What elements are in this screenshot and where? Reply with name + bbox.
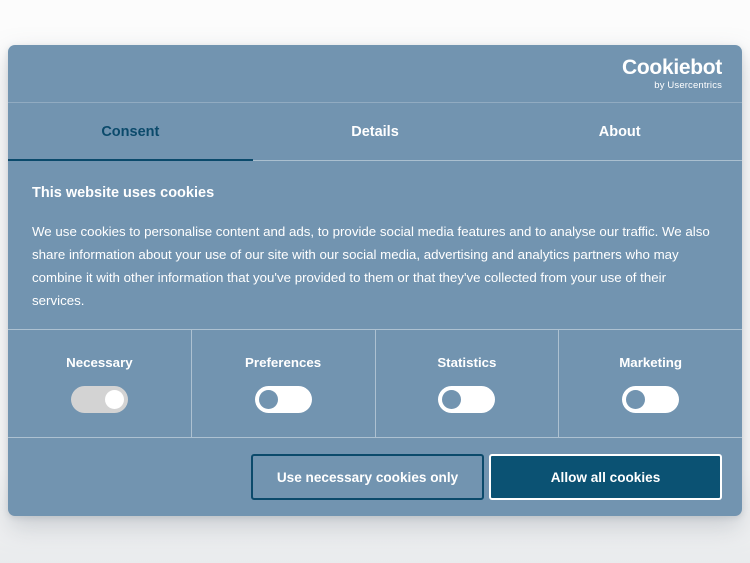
toggle-knob-icon [259,390,278,409]
category-label: Statistics [437,355,496,370]
toggle-knob-icon [442,390,461,409]
toggle-preferences[interactable] [255,386,312,413]
tab-consent[interactable]: Consent [8,103,253,160]
tab-about[interactable]: About [497,103,742,160]
category-label: Necessary [66,355,133,370]
body-description: We use cookies to personalise content an… [32,220,718,312]
logo-wordmark: Cookiebot [622,57,722,78]
category-statistics: Statistics [376,330,560,437]
dialog-footer: Use necessary cookies only Allow all coo… [8,438,742,516]
cookiebot-logo: Cookiebot by Usercentrics [622,57,722,91]
category-label: Preferences [245,355,321,370]
use-necessary-cookies-only-button[interactable]: Use necessary cookies only [251,454,484,500]
category-label: Marketing [619,355,682,370]
category-preferences: Preferences [192,330,376,437]
category-necessary: Necessary [8,330,192,437]
cookie-consent-dialog: Cookiebot by Usercentrics Consent Detail… [8,45,742,516]
category-toggle-row: Necessary Preferences Statistics Marketi… [8,329,742,438]
toggle-knob-icon [626,390,645,409]
tab-details[interactable]: Details [253,103,498,160]
body-title: This website uses cookies [32,185,718,201]
allow-all-cookies-button[interactable]: Allow all cookies [489,454,722,500]
toggle-statistics[interactable] [438,386,495,413]
consent-body: This website uses cookies We use cookies… [8,161,742,329]
dialog-header: Cookiebot by Usercentrics [8,45,742,103]
toggle-necessary [71,386,128,413]
logo-tagline: by Usercentrics [622,81,722,91]
category-marketing: Marketing [559,330,742,437]
toggle-knob-icon [105,390,124,409]
tab-bar: Consent Details About [8,103,742,161]
toggle-marketing[interactable] [622,386,679,413]
